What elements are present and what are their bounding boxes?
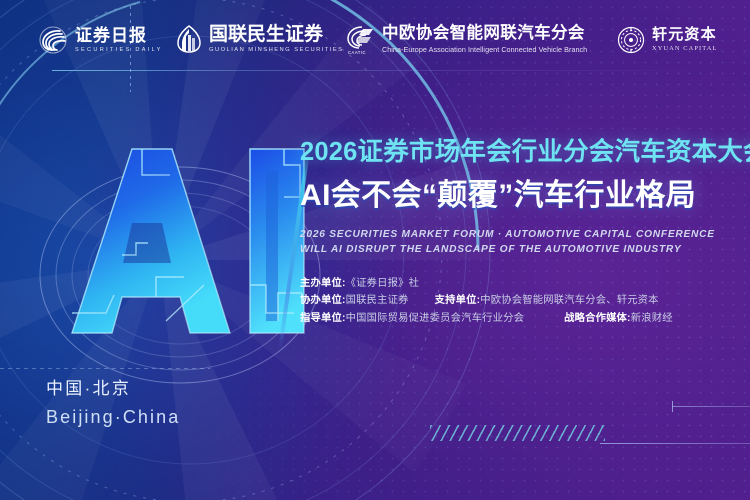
- logo-en-name: China-Europe Association Intelligent Con…: [382, 46, 587, 53]
- diagonal-hatch-decoration: [430, 425, 605, 441]
- location-en: Beijing·China: [46, 405, 180, 430]
- organizer-value: 《证券日报》社: [346, 275, 419, 293]
- conference-headline-cn: AI会不会“颠覆”汽车行业格局: [300, 181, 750, 211]
- caatic-swoosh-icon: CAATIC: [345, 23, 375, 55]
- svg-text:CAATIC: CAATIC: [348, 50, 366, 55]
- organizer-list: 主办单位: 《证券日报》社 协办单位: 国联民主证券 支持单位: 中欧协会智能网…: [300, 275, 750, 328]
- organizer-label: 支持单位:: [435, 292, 481, 310]
- logo-caatic[interactable]: CAATIC 中欧协会智能网联汽车分会 China-Europe Associa…: [345, 23, 587, 55]
- organizer-value: 中欧协会智能网联汽车分会、轩元资本: [480, 292, 658, 310]
- logo-cn-name: 轩元资本: [652, 28, 717, 43]
- organizer-row: 协办单位: 国联民主证券 支持单位: 中欧协会智能网联汽车分会、轩元资本: [300, 292, 750, 310]
- bottom-line-decoration-b: [672, 406, 750, 407]
- organizer-value: 新浪财经: [631, 310, 673, 328]
- header-underline: [52, 70, 712, 71]
- logo-en-name: XYUAN CAPITAL: [652, 46, 717, 52]
- conference-poster: 证券日报 SECURITIES DAILY 国联民生证券 GUOLIAN MIN…: [0, 0, 750, 500]
- subtitle-en-line-2: WILL AI DISRUPT THE LANDSCAPE OF THE AUT…: [300, 242, 750, 258]
- location-cn: 中国·北京: [46, 378, 180, 401]
- organizer-label: 主办单位:: [300, 275, 346, 293]
- organizer-label: 指导单位:: [300, 310, 346, 328]
- main-content: 2026证券市场年会行业分会汽车资本大会 AI会不会“颠覆”汽车行业格局 202…: [300, 140, 750, 328]
- logo-securities-daily[interactable]: 证券日报 SECURITIES DAILY: [38, 25, 163, 55]
- organizer-row: 主办单位: 《证券日报》社: [300, 275, 750, 293]
- logo-cn-name: 中欧协会智能网联汽车分会: [382, 25, 587, 42]
- bottom-tick-decoration: [672, 401, 673, 412]
- letter-a-shape: [72, 149, 230, 333]
- circular-seal-icon: [617, 26, 645, 54]
- logo-en-name: GUOLIAN MINSHENG SECURITIES: [209, 48, 344, 54]
- bottom-line-decoration-a: [600, 443, 750, 444]
- location-divider-line: [0, 368, 210, 369]
- organizer-value: 国联民主证券: [346, 292, 409, 310]
- logo-cn-name: 证券日报: [75, 27, 163, 44]
- conference-title-cn: 2026证券市场年会行业分会汽车资本大会: [300, 140, 750, 166]
- location-block: 中国·北京 Beijing·China: [46, 378, 180, 430]
- logo-guolian-minsheng[interactable]: 国联民生证券 GUOLIAN MINSHENG SECURITIES: [176, 24, 344, 54]
- organizer-row: 指导单位: 中国国际贸易促进委员会汽车行业分会 战略合作媒体: 新浪财经: [300, 310, 750, 328]
- logo-cn-name: 国联民生证券: [209, 25, 344, 44]
- subtitle-en-line-1: 2026 SECURITIES MARKET FORUM · AUTOMOTIV…: [300, 227, 750, 243]
- organizer-value: 中国国际贸易促进委员会汽车行业分会: [346, 310, 524, 328]
- swirl-globe-icon: [38, 25, 68, 55]
- leaf-tower-icon: [176, 24, 202, 54]
- logo-en-name: SECURITIES DAILY: [75, 48, 163, 54]
- organizer-label: 协办单位:: [300, 292, 346, 310]
- organizer-label: 战略合作媒体:: [564, 310, 631, 328]
- logo-xyuan-capital[interactable]: 轩元资本 XYUAN CAPITAL: [617, 26, 717, 54]
- conference-subtitle-en: 2026 SECURITIES MARKET FORUM · AUTOMOTIV…: [300, 227, 750, 258]
- sponsor-logo-bar: 证券日报 SECURITIES DAILY 国联民生证券 GUOLIAN MIN…: [0, 0, 750, 74]
